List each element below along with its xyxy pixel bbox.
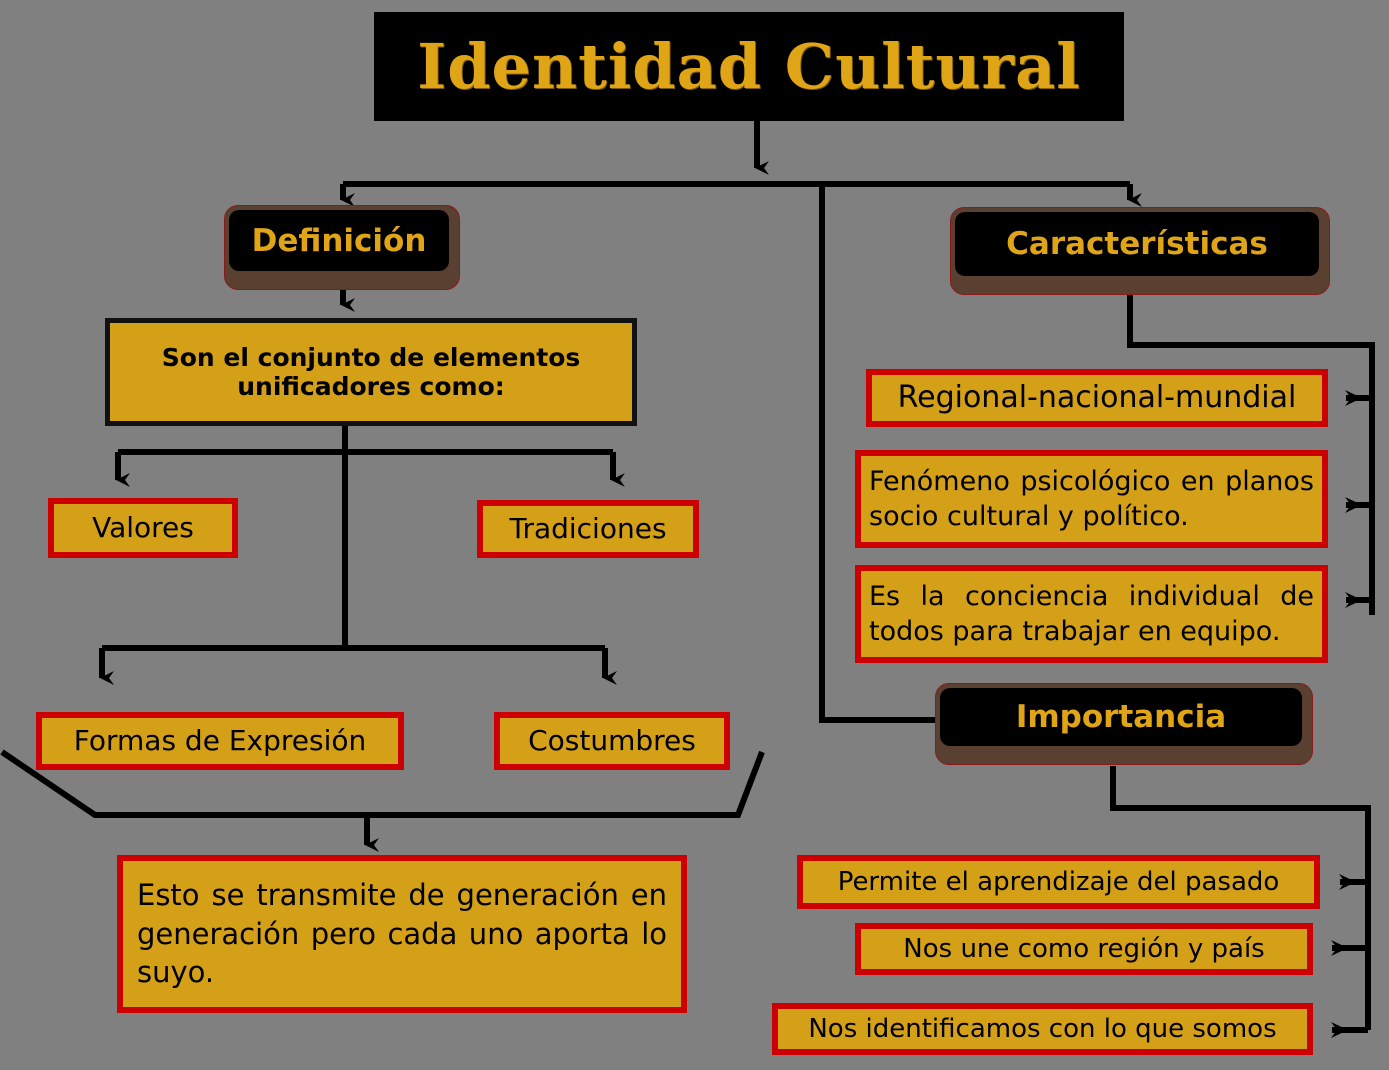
box-definicion-conclusion: Esto se transmite de generación en gener… — [117, 855, 687, 1013]
header-definicion-label: Definición — [252, 223, 427, 259]
box-caracteristica-1-text: Regional-nacional-mundial — [872, 380, 1322, 415]
box-caracteristica-3-text: Es la conciencia individual de todos par… — [861, 579, 1322, 649]
box-tradiciones-text: Tradiciones — [483, 512, 693, 545]
box-importancia-3-text: Nos identificamos con lo que somos — [778, 1014, 1307, 1045]
header-caracteristicas-inner: Características — [955, 212, 1319, 276]
box-formas-de-expresion: Formas de Expresión — [36, 712, 404, 770]
box-caracteristica-2-text: Fenómeno psicológico en planos socio cul… — [861, 464, 1322, 534]
box-costumbres-text: Costumbres — [500, 724, 724, 757]
header-importancia-label: Importancia — [1016, 699, 1226, 735]
box-costumbres: Costumbres — [494, 712, 730, 770]
box-importancia-2-text: Nos une como región y país — [861, 934, 1307, 965]
header-importancia-inner: Importancia — [940, 688, 1302, 746]
header-definicion-inner: Definición — [229, 210, 449, 271]
box-valores: Valores — [48, 498, 238, 558]
box-formas-de-expresion-text: Formas de Expresión — [42, 724, 398, 757]
box-importancia-1-text: Permite el aprendizaje del pasado — [803, 867, 1314, 898]
box-importancia-1: Permite el aprendizaje del pasado — [797, 855, 1320, 909]
box-definicion-intro: Son el conjunto de elementos unificadore… — [105, 318, 637, 426]
header-caracteristicas[interactable]: Características — [950, 207, 1330, 295]
box-valores-text: Valores — [54, 511, 232, 544]
box-importancia-3: Nos identificamos con lo que somos — [772, 1003, 1313, 1055]
page-title: Identidad Cultural — [417, 30, 1081, 103]
concept-map-canvas: Identidad Cultural Definición Son el con… — [0, 0, 1389, 1070]
box-tradiciones: Tradiciones — [477, 500, 699, 558]
box-definicion-conclusion-text: Esto se transmite de generación en gener… — [123, 876, 681, 992]
box-caracteristica-1: Regional-nacional-mundial — [866, 369, 1328, 427]
box-caracteristica-2: Fenómeno psicológico en planos socio cul… — [855, 450, 1328, 548]
header-caracteristicas-label: Características — [1006, 226, 1268, 262]
diagram-title-box: Identidad Cultural — [374, 12, 1124, 121]
header-importancia[interactable]: Importancia — [935, 683, 1313, 765]
header-definicion[interactable]: Definición — [224, 205, 460, 290]
box-importancia-2: Nos une como región y país — [855, 923, 1313, 975]
box-definicion-intro-text: Son el conjunto de elementos unificadore… — [110, 343, 632, 402]
box-caracteristica-3: Es la conciencia individual de todos par… — [855, 565, 1328, 663]
